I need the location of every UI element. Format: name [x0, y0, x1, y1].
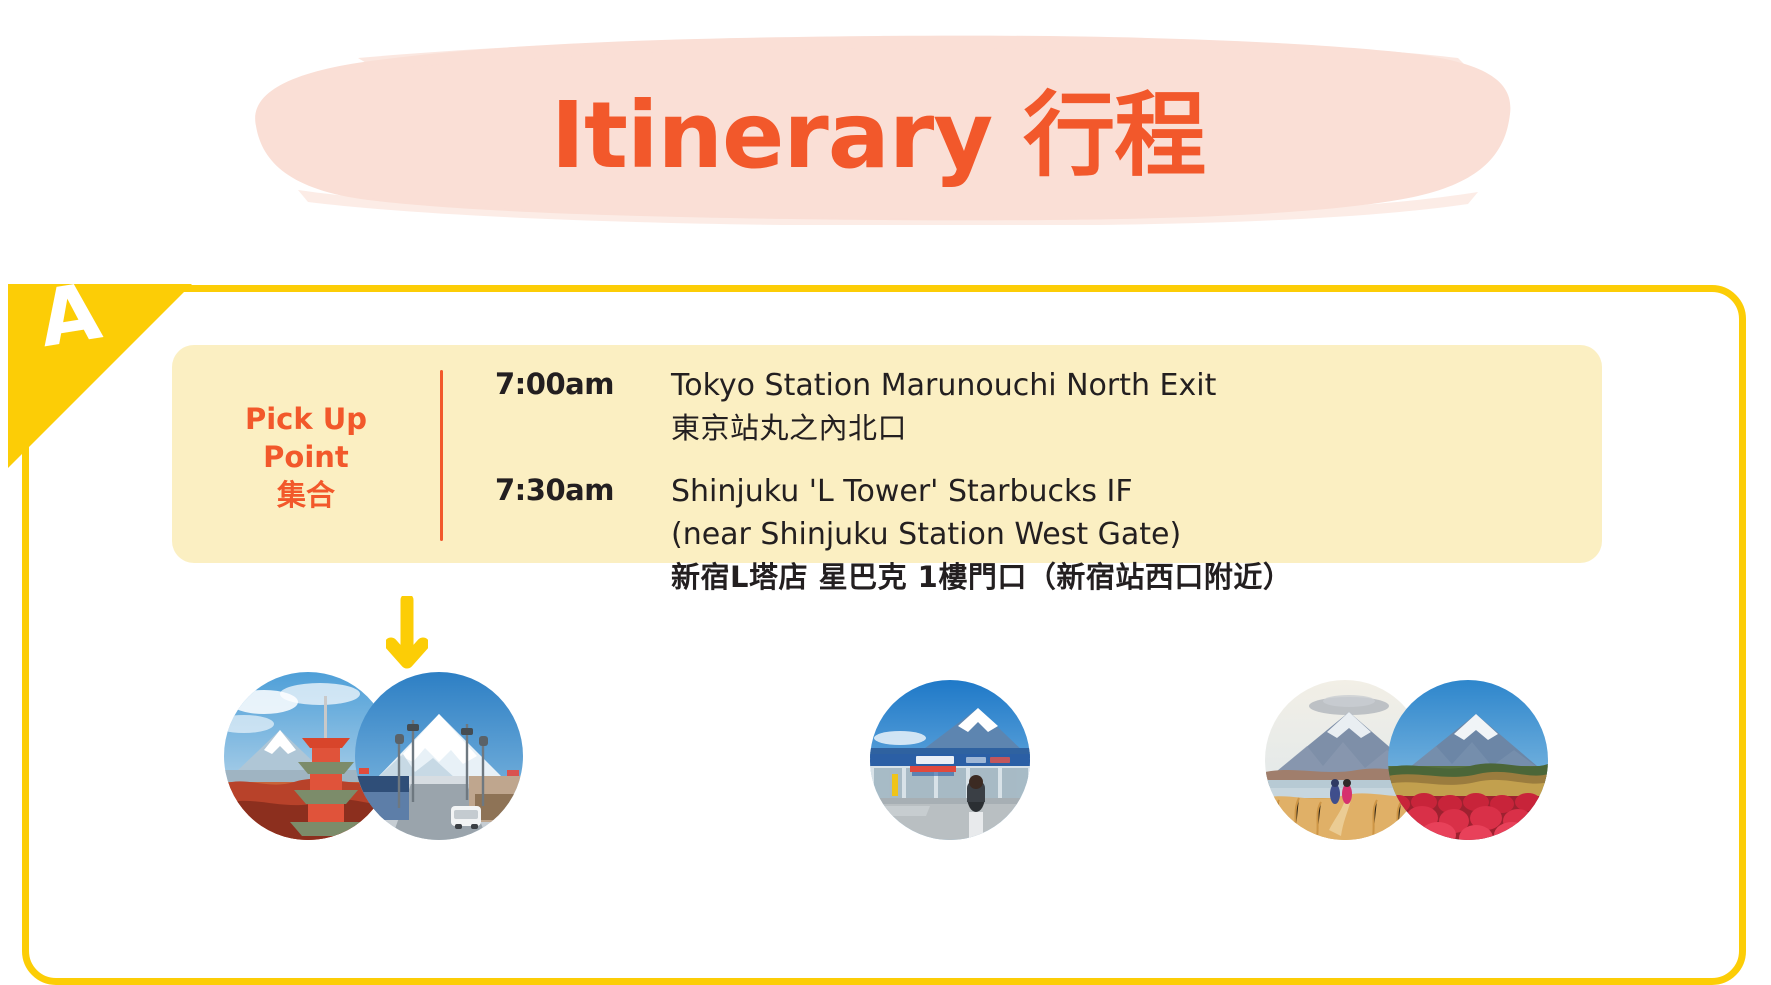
schedule-row: 7:00am Tokyo Station Marunouchi North Ex…	[495, 365, 1602, 449]
photo-lawson-convenience-store-mt-fuji-icon	[870, 680, 1030, 840]
schedule-place-line: (near Shinjuku Station West Gate)	[671, 514, 1602, 557]
pickup-point-label: Pick Up Point 集合	[172, 345, 440, 563]
pickup-label-line3: 集合	[277, 476, 335, 514]
schedule-list: 7:00am Tokyo Station Marunouchi North Ex…	[443, 345, 1602, 563]
schedule-time: 7:00am	[495, 365, 671, 401]
schedule-time: 7:30am	[495, 471, 671, 507]
photo-snowy-street-mt-fuji-icon	[355, 672, 523, 840]
schedule-row: 7:30am Shinjuku 'L Tower' Starbucks IF (…	[495, 471, 1602, 598]
pickup-label-line2: Point	[263, 438, 349, 476]
header-banner: Itinerary 行程	[0, 0, 1771, 252]
pickup-point-panel: Pick Up Point 集合 7:00am Tokyo Station Ma…	[172, 345, 1602, 563]
schedule-place-line-cjk: 新宿L塔店 星巴克 1樓門口（新宿站西口附近）	[671, 557, 1602, 598]
pickup-label-line1: Pick Up	[245, 400, 367, 438]
schedule-place: Tokyo Station Marunouchi North Exit 東京站丸…	[671, 365, 1602, 449]
schedule-place-line: Tokyo Station Marunouchi North Exit	[671, 365, 1602, 408]
schedule-place-line: Shinjuku 'L Tower' Starbucks IF	[671, 471, 1602, 514]
schedule-place-line-cjk: 東京站丸之內北口	[671, 408, 1602, 449]
schedule-place: Shinjuku 'L Tower' Starbucks IF (near Sh…	[671, 471, 1602, 598]
page-title: Itinerary 行程	[238, 42, 1518, 212]
photo-kochia-red-bushes-mt-fuji-icon	[1388, 680, 1548, 840]
arrow-down-icon	[386, 596, 428, 672]
section-tab-letter: A	[15, 261, 125, 371]
